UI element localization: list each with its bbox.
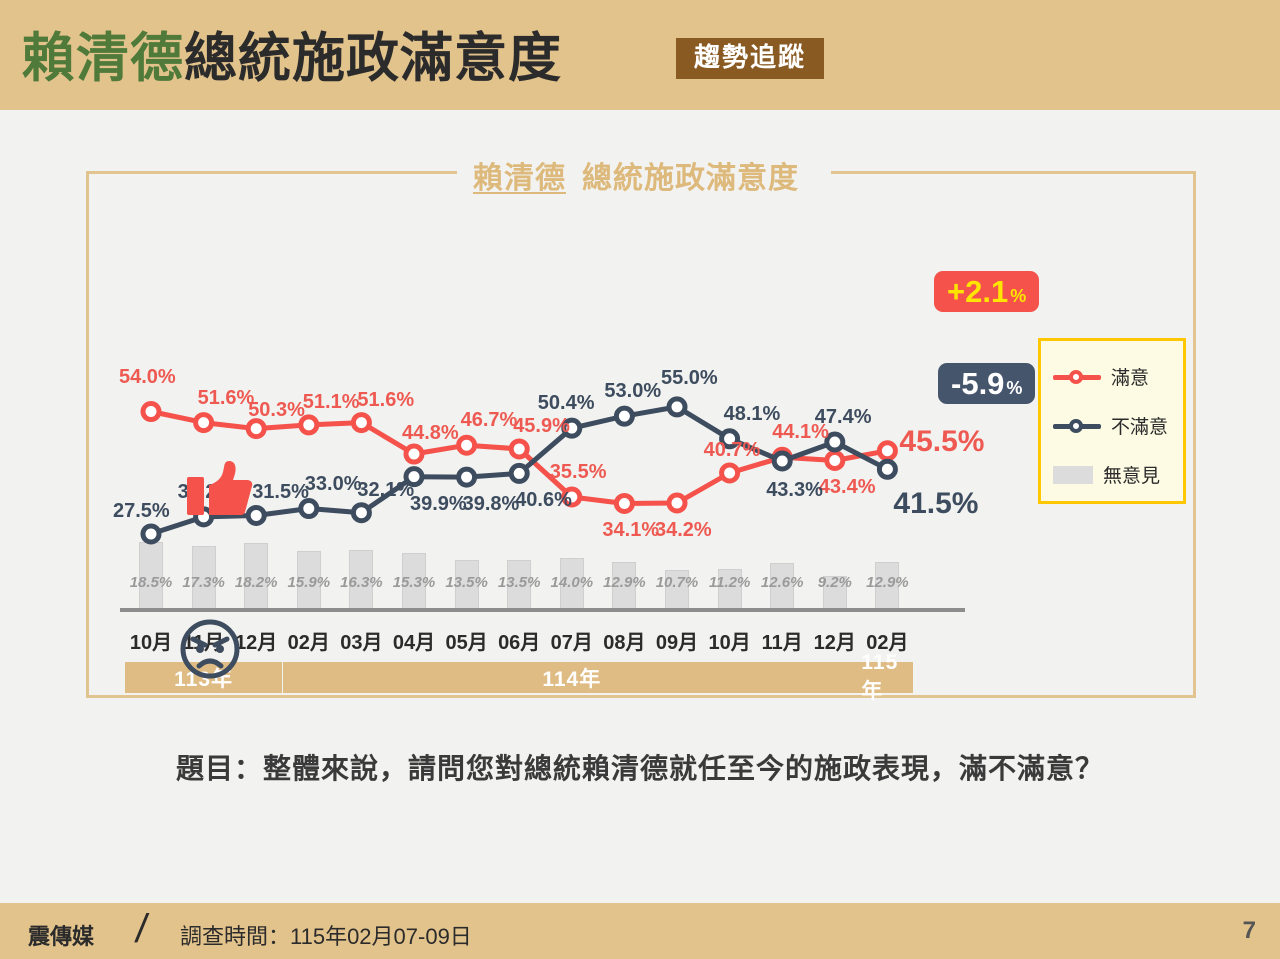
dissatisfied-value-label: 47.4% — [815, 406, 872, 429]
dissatisfied-change-value: -5.9 — [951, 368, 1004, 399]
satisfied-point — [143, 404, 159, 420]
dissatisfied-value-label: 55.0% — [661, 367, 718, 390]
satisfied-point — [669, 495, 685, 511]
satisfied-point — [406, 446, 422, 462]
month-label: 08月 — [596, 626, 652, 655]
satisfied-value-label: 51.6% — [198, 387, 255, 410]
dissatisfied-value-label: 33.0% — [305, 473, 362, 496]
legend-box-icon-no-opinion — [1053, 466, 1093, 484]
satisfied-point — [722, 465, 738, 481]
dissatisfied-value-label: 48.1% — [724, 403, 781, 426]
no-opinion-bar-label: 9.2% — [807, 574, 863, 591]
month-label: 10月 — [123, 626, 179, 655]
month-label: 10月 — [702, 626, 758, 655]
satisfied-point — [248, 421, 264, 437]
footer-brand: 震傳媒 — [28, 919, 94, 951]
slide-root: 賴清德總統施政滿意度 趨勢追蹤 賴清德總統施政滿意度 54.0%51.6%50.… — [0, 0, 1280, 959]
dissatisfied-point — [879, 461, 895, 477]
satisfied-point — [879, 443, 895, 459]
month-label: 06月 — [491, 626, 547, 655]
footer-page-number: 7 — [1243, 917, 1256, 945]
satisfied-point — [616, 495, 632, 511]
satisfied-value-label: 51.6% — [357, 389, 414, 412]
dissatisfied-change-unit: % — [1006, 379, 1022, 397]
legend-item-satisfied: 滿意 — [1053, 363, 1149, 390]
legend-item-no-opinion: 無意見 — [1053, 461, 1160, 488]
no-opinion-bar-label: 17.3% — [176, 574, 232, 591]
no-opinion-bar-label: 18.5% — [123, 574, 179, 591]
legend-item-dissatisfied: 不滿意 — [1053, 412, 1168, 439]
chart-legend: 滿意 不滿意 無意見 — [1038, 338, 1186, 504]
legend-label-dissatisfied: 不滿意 — [1111, 412, 1168, 439]
dissatisfied-value-label: 43.3% — [766, 479, 823, 502]
satisfied-value-label: 50.3% — [248, 399, 305, 422]
dissatisfied-value-label: 27.5% — [113, 500, 170, 523]
legend-label-satisfied: 滿意 — [1111, 363, 1149, 390]
dissatisfied-value-label: 32.1% — [357, 479, 414, 502]
dissatisfied-point — [353, 505, 369, 521]
x-axis-year-bands: 113年114年115年 — [89, 662, 1199, 696]
month-label: 11月 — [754, 626, 810, 655]
year-band: 115年 — [861, 662, 913, 693]
no-opinion-bar-label: 18.2% — [228, 574, 284, 591]
dissatisfied-point — [459, 469, 475, 485]
no-opinion-bar-label: 15.3% — [386, 574, 442, 591]
no-opinion-bar-label: 12.9% — [859, 574, 915, 591]
month-label: 09月 — [649, 626, 705, 655]
dissatisfied-value-label: 50.4% — [538, 392, 595, 415]
dissatisfied-value-label: 39.8% — [463, 493, 520, 516]
satisfied-value-label: 46.7% — [461, 409, 518, 432]
dissatisfied-value-label: 53.0% — [604, 380, 661, 403]
dissatisfied-value-label: 39.9% — [410, 493, 467, 516]
no-opinion-bar-label: 13.5% — [439, 574, 495, 591]
satisfied-point — [353, 415, 369, 431]
angry-face-icon — [179, 618, 241, 685]
no-opinion-bar-label: 12.9% — [596, 574, 652, 591]
no-opinion-bar-label: 16.3% — [333, 574, 389, 591]
month-label: 05月 — [439, 626, 495, 655]
header-badge: 趨勢追蹤 — [676, 38, 824, 79]
dissatisfied-value-label: 41.5% — [893, 487, 978, 521]
question-text: 題目：整體來說，請問您對總統賴清德就任至今的施政表現，滿不滿意？ — [0, 747, 1280, 787]
no-opinion-bar-label: 13.5% — [491, 574, 547, 591]
header-band: 賴清德總統施政滿意度 趨勢追蹤 — [0, 0, 1280, 110]
no-opinion-bar-label: 14.0% — [544, 574, 600, 591]
footer-survey-time: 調查時間：115年02月07-09日 — [180, 919, 472, 951]
year-band: 114年 — [283, 662, 861, 693]
line-series-svg — [89, 174, 1199, 701]
x-axis-month-labels: 10月11月12月02月03月04月05月06月07月08月09月10月11月1… — [89, 626, 1199, 656]
month-label: 12月 — [807, 626, 863, 655]
legend-label-no-opinion: 無意見 — [1103, 461, 1160, 488]
no-opinion-bar-label: 12.6% — [754, 574, 810, 591]
month-label: 02月 — [281, 626, 337, 655]
page-title-highlight: 賴清德 — [22, 29, 184, 88]
satisfied-value-label: 45.9% — [513, 415, 570, 438]
no-opinion-bar-label: 11.2% — [702, 574, 758, 591]
satisfied-value-label: 43.4% — [819, 476, 876, 499]
no-opinion-bar-label: 10.7% — [649, 574, 705, 591]
satisfied-value-label: 40.7% — [704, 439, 761, 462]
footer-divider-icon: / — [133, 907, 150, 952]
satisfied-value-label: 34.1% — [602, 519, 659, 542]
month-label: 07月 — [544, 626, 600, 655]
month-label: 04月 — [386, 626, 442, 655]
dissatisfied-change-badge: -5.9% — [938, 363, 1035, 404]
satisfied-point — [827, 452, 843, 468]
footer-band: 震傳媒 / 調查時間：115年02月07-09日 7 — [0, 903, 1280, 959]
satisfied-value-label: 45.5% — [899, 425, 984, 459]
chart-frame: 賴清德總統施政滿意度 54.0%51.6%50.3%51.1%51.6%44.8… — [86, 171, 1196, 698]
satisfied-point — [459, 437, 475, 453]
satisfied-value-label: 51.1% — [303, 391, 360, 414]
month-label: 03月 — [333, 626, 389, 655]
satisfied-change-badge: +2.1% — [934, 271, 1039, 312]
satisfied-change-value: +2.1 — [947, 276, 1008, 307]
dissatisfied-point — [511, 465, 527, 481]
dissatisfied-point — [616, 408, 632, 424]
satisfied-change-unit: % — [1010, 287, 1026, 305]
page-title: 賴清德總統施政滿意度 — [22, 16, 562, 92]
dissatisfied-value-label: 31.5% — [252, 481, 309, 504]
dissatisfied-point — [827, 434, 843, 450]
thumbs-up-icon — [187, 459, 253, 524]
legend-line-icon-dissatisfied — [1053, 418, 1101, 434]
satisfied-value-label: 35.5% — [550, 461, 607, 484]
satisfied-point — [511, 441, 527, 457]
satisfied-value-label: 34.2% — [655, 519, 712, 542]
dissatisfied-value-label: 40.6% — [515, 489, 572, 512]
dissatisfied-point — [774, 453, 790, 469]
page-title-rest: 總統施政滿意度 — [184, 29, 562, 88]
no-opinion-bar-label: 15.9% — [281, 574, 337, 591]
satisfied-value-label: 44.8% — [402, 422, 459, 445]
chart-plot-area: 54.0%51.6%50.3%51.1%51.6%44.8%46.7%45.9%… — [89, 174, 1199, 701]
dissatisfied-point — [143, 526, 159, 542]
legend-line-icon-satisfied — [1053, 369, 1101, 385]
dissatisfied-point — [669, 399, 685, 415]
satisfied-point — [196, 415, 212, 431]
satisfied-value-label: 54.0% — [119, 366, 176, 389]
